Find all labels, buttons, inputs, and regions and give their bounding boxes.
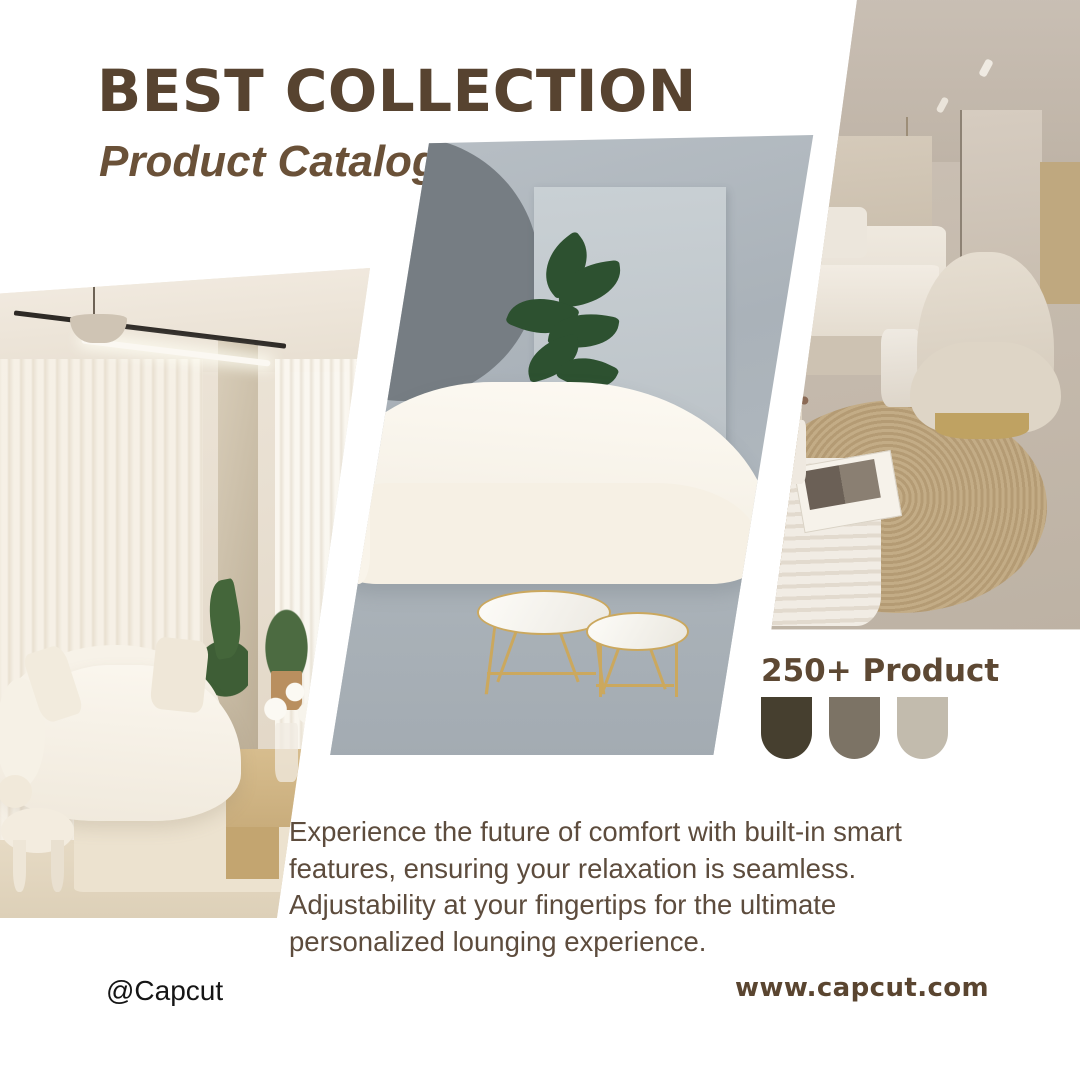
stool-leg-left xyxy=(13,840,26,892)
bed-pillow xyxy=(809,207,867,259)
page-title: BEST COLLECTION xyxy=(97,62,697,120)
glass-vase xyxy=(275,723,298,782)
website-url[interactable]: www.capcut.com xyxy=(735,973,989,1003)
swatch-taupe[interactable] xyxy=(829,697,880,759)
black-cup xyxy=(313,782,328,805)
swatch-dark-olive[interactable] xyxy=(761,697,812,759)
stool-leg-right xyxy=(51,840,64,892)
swatch-beige[interactable] xyxy=(897,697,948,759)
coffee-table-large-base xyxy=(487,672,596,675)
coffee-table-small-base xyxy=(596,684,674,687)
coffee-table-small-top xyxy=(586,612,689,651)
product-count-label: 250+ Product xyxy=(761,653,999,689)
armchair-brass-base xyxy=(935,413,1029,439)
page-subtitle: Product Catalog xyxy=(99,140,439,184)
studio-scene xyxy=(300,130,820,760)
social-handle: @Capcut xyxy=(106,975,223,1007)
product-catalog-poster: BEST COLLECTION Product Catalog xyxy=(0,0,1080,1080)
studio-sofa-photo xyxy=(300,130,820,760)
dried-stems xyxy=(784,368,813,433)
description-text: Experience the future of comfort with bu… xyxy=(289,814,957,960)
sofa-seat xyxy=(331,483,757,584)
stool-backrest xyxy=(0,775,32,808)
wall-panel xyxy=(1040,162,1080,304)
color-swatch-group xyxy=(761,697,948,759)
cushion-right xyxy=(150,636,210,713)
pendant-wire xyxy=(93,275,95,314)
